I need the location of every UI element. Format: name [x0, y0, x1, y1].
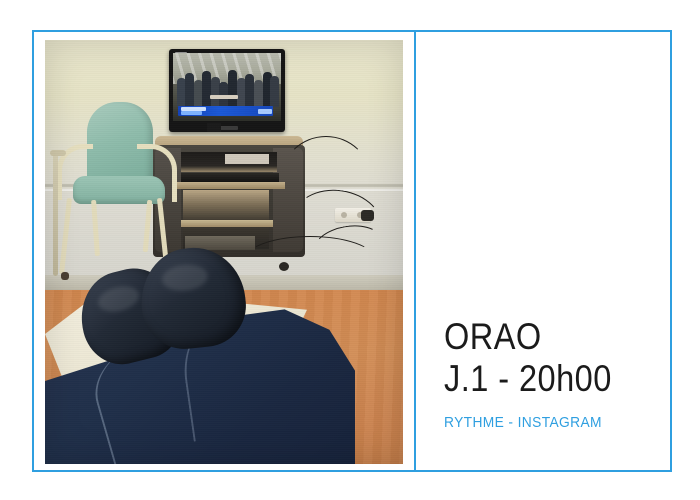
photographer-legs [45, 246, 403, 464]
dvd-player [181, 173, 279, 182]
chair-leg-back-right [143, 200, 153, 252]
cabinet-middle-plank [175, 182, 285, 189]
ticker-clock-chip [258, 109, 271, 114]
cabinet-open-cavity [183, 190, 269, 222]
ticker-subline-chip [181, 111, 202, 114]
broadcast-crowd [173, 65, 281, 107]
cabinet-lower-plank [181, 220, 273, 227]
tv-stand-neck [207, 123, 221, 132]
broadcast-table [210, 95, 238, 99]
chair-armrest-right [137, 144, 177, 202]
television [169, 49, 285, 132]
title-line-2: J.1 - 20h00 [444, 358, 646, 400]
title-line-1: ORAO [444, 316, 646, 358]
caption-block: ORAO J.1 - 20h00 RYTHME - INSTAGRAM [444, 316, 674, 432]
slide-canvas: ORAO J.1 - 20h00 RYTHME - INSTAGRAM [0, 0, 700, 500]
shoe-right-highlight [160, 262, 208, 293]
tv-screen [173, 53, 281, 121]
news-ticker-banner [178, 106, 273, 116]
room-photo [45, 40, 403, 464]
content-card: ORAO J.1 - 20h00 RYTHME - INSTAGRAM [32, 30, 672, 472]
cabinet-upper-shelf [181, 152, 277, 172]
walking-aid-handle [50, 150, 66, 156]
text-pane: ORAO J.1 - 20h00 RYTHME - INSTAGRAM [416, 32, 670, 470]
shoe-left-highlight [95, 282, 142, 315]
shelf-label-panel [225, 154, 269, 164]
subtitle: RYTHME - INSTAGRAM [444, 414, 656, 432]
ticker-headline-chip [181, 107, 206, 111]
photo-pane [34, 32, 414, 470]
